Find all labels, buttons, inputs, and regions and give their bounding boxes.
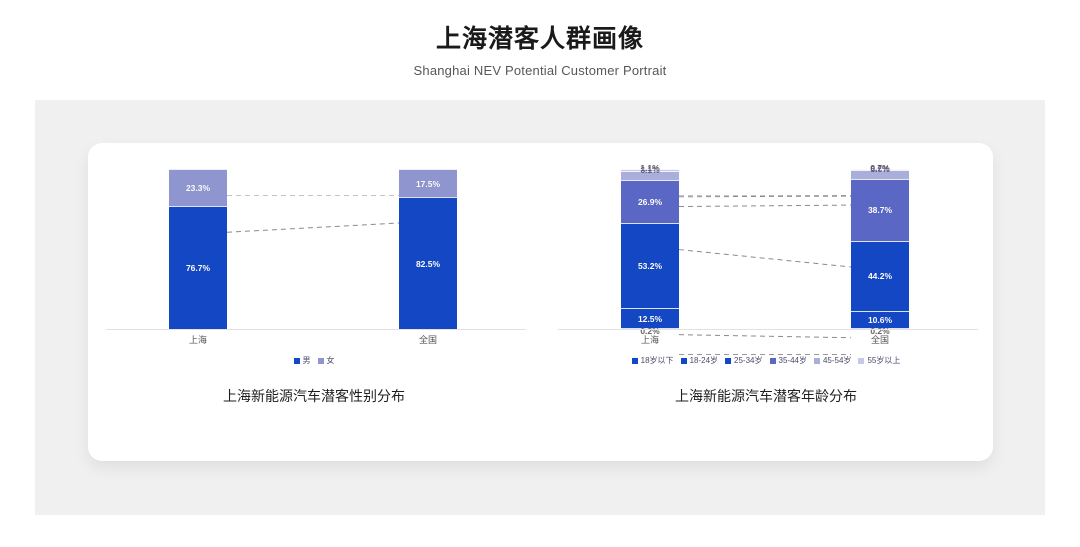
chart-caption: 上海新能源汽车潜客年龄分布 bbox=[540, 386, 992, 406]
legend-item[interactable]: 35-44岁 bbox=[770, 355, 807, 366]
bar-segment[interactable]: 23.3% bbox=[169, 169, 227, 206]
bar-segment-label: 76.7% bbox=[186, 263, 210, 273]
charts-card: 76.7%23.3%82.5%17.5%上海全国男女上海新能源汽车潜客性别分布0… bbox=[88, 143, 993, 461]
page-title: 上海潜客人群画像 bbox=[436, 24, 644, 54]
legend-label: 男 bbox=[303, 355, 311, 366]
legend-item[interactable]: 18岁以下 bbox=[632, 355, 674, 366]
legend-label: 45-54岁 bbox=[823, 355, 851, 366]
legend-swatch-icon bbox=[858, 358, 864, 364]
x-axis-line bbox=[558, 329, 978, 330]
bar-segment-label: 10.6% bbox=[868, 315, 892, 325]
stacked-bar[interactable]: 0.2%10.6%44.2%38.7%5.6%0.7% bbox=[851, 169, 909, 329]
category-label: 全国 bbox=[419, 333, 437, 346]
category-label: 上海 bbox=[641, 333, 659, 346]
legend-swatch-icon bbox=[681, 358, 687, 364]
legend-item[interactable]: 男 bbox=[294, 355, 311, 366]
chart-caption: 上海新能源汽车潜客性别分布 bbox=[88, 386, 540, 406]
legend-item[interactable]: 45-54岁 bbox=[814, 355, 851, 366]
chart-legend: 男女 bbox=[88, 355, 540, 366]
legend-item[interactable]: 55岁以上 bbox=[858, 355, 900, 366]
bar-segment-label: 44.2% bbox=[868, 271, 892, 281]
bar-segment-label: 38.7% bbox=[868, 205, 892, 215]
legend-label: 18-24岁 bbox=[690, 355, 718, 366]
bar-segment[interactable]: 12.5% bbox=[621, 308, 679, 328]
legend-swatch-icon bbox=[770, 358, 776, 364]
bar-segment-label: 53.2% bbox=[638, 261, 662, 271]
plot-area: 76.7%23.3%82.5%17.5% bbox=[88, 169, 540, 329]
legend-label: 25-34岁 bbox=[734, 355, 762, 366]
page-subtitle: Shanghai NEV Potential Customer Portrait bbox=[414, 63, 667, 78]
legend-swatch-icon bbox=[632, 358, 638, 364]
bar-segment-label: 17.5% bbox=[416, 179, 440, 189]
legend-swatch-icon bbox=[725, 358, 731, 364]
legend-item[interactable]: 25-34岁 bbox=[725, 355, 762, 366]
page-root: 上海潜客人群画像 Shanghai NEV Potential Customer… bbox=[0, 0, 1080, 547]
stacked-bar[interactable]: 76.7%23.3% bbox=[169, 169, 227, 329]
chart-block: 0.2%12.5%53.2%26.9%6.1%1.1%0.2%10.6%44.2… bbox=[540, 143, 992, 461]
page-header: 上海潜客人群画像 Shanghai NEV Potential Customer… bbox=[0, 0, 1080, 100]
x-axis-line bbox=[106, 329, 526, 330]
bar-segment-label: 82.5% bbox=[416, 259, 440, 269]
legend-label: 55岁以上 bbox=[867, 355, 900, 366]
legend-swatch-icon bbox=[318, 358, 324, 364]
bar-segment[interactable]: 44.2% bbox=[851, 241, 909, 311]
bar-segment-label: 23.3% bbox=[186, 183, 210, 193]
plot-area: 0.2%12.5%53.2%26.9%6.1%1.1%0.2%10.6%44.2… bbox=[540, 169, 992, 329]
bar-segment[interactable]: 26.9% bbox=[621, 180, 679, 223]
bar-segment-label: 12.5% bbox=[638, 314, 662, 324]
chart-legend: 18岁以下18-24岁25-34岁35-44岁45-54岁55岁以上 bbox=[540, 355, 992, 366]
bar-segment[interactable]: 82.5% bbox=[399, 197, 457, 329]
bar-segment[interactable]: 10.6% bbox=[851, 311, 909, 328]
bar-segment[interactable]: 1.1% bbox=[621, 169, 679, 171]
stacked-bar[interactable]: 0.2%12.5%53.2%26.9%6.1%1.1% bbox=[621, 169, 679, 329]
bar-segment[interactable]: 53.2% bbox=[621, 223, 679, 308]
bar-segment[interactable]: 38.7% bbox=[851, 179, 909, 241]
category-label: 上海 bbox=[189, 333, 207, 346]
bar-segment[interactable]: 0.7% bbox=[851, 169, 909, 170]
legend-swatch-icon bbox=[814, 358, 820, 364]
bar-segment[interactable]: 76.7% bbox=[169, 206, 227, 329]
connector-lines bbox=[88, 195, 540, 355]
category-labels: 上海全国 bbox=[106, 333, 526, 349]
legend-label: 35-44岁 bbox=[779, 355, 807, 366]
bar-segment-label: 26.9% bbox=[638, 197, 662, 207]
legend-label: 18岁以下 bbox=[641, 355, 674, 366]
bar-segment-label: 1.1% bbox=[640, 163, 659, 173]
chart-block: 76.7%23.3%82.5%17.5%上海全国男女上海新能源汽车潜客性别分布 bbox=[88, 143, 540, 461]
bar-segment[interactable]: 17.5% bbox=[399, 169, 457, 197]
stacked-bar[interactable]: 82.5%17.5% bbox=[399, 169, 457, 329]
connector-lines bbox=[540, 195, 992, 355]
category-label: 全国 bbox=[871, 333, 889, 346]
legend-item[interactable]: 18-24岁 bbox=[681, 355, 718, 366]
bar-segment-label: 0.7% bbox=[870, 163, 889, 173]
charts-container: 76.7%23.3%82.5%17.5%上海全国男女上海新能源汽车潜客性别分布0… bbox=[88, 143, 993, 461]
category-labels: 上海全国 bbox=[558, 333, 978, 349]
legend-item[interactable]: 女 bbox=[318, 355, 335, 366]
legend-label: 女 bbox=[327, 355, 335, 366]
legend-swatch-icon bbox=[294, 358, 300, 364]
